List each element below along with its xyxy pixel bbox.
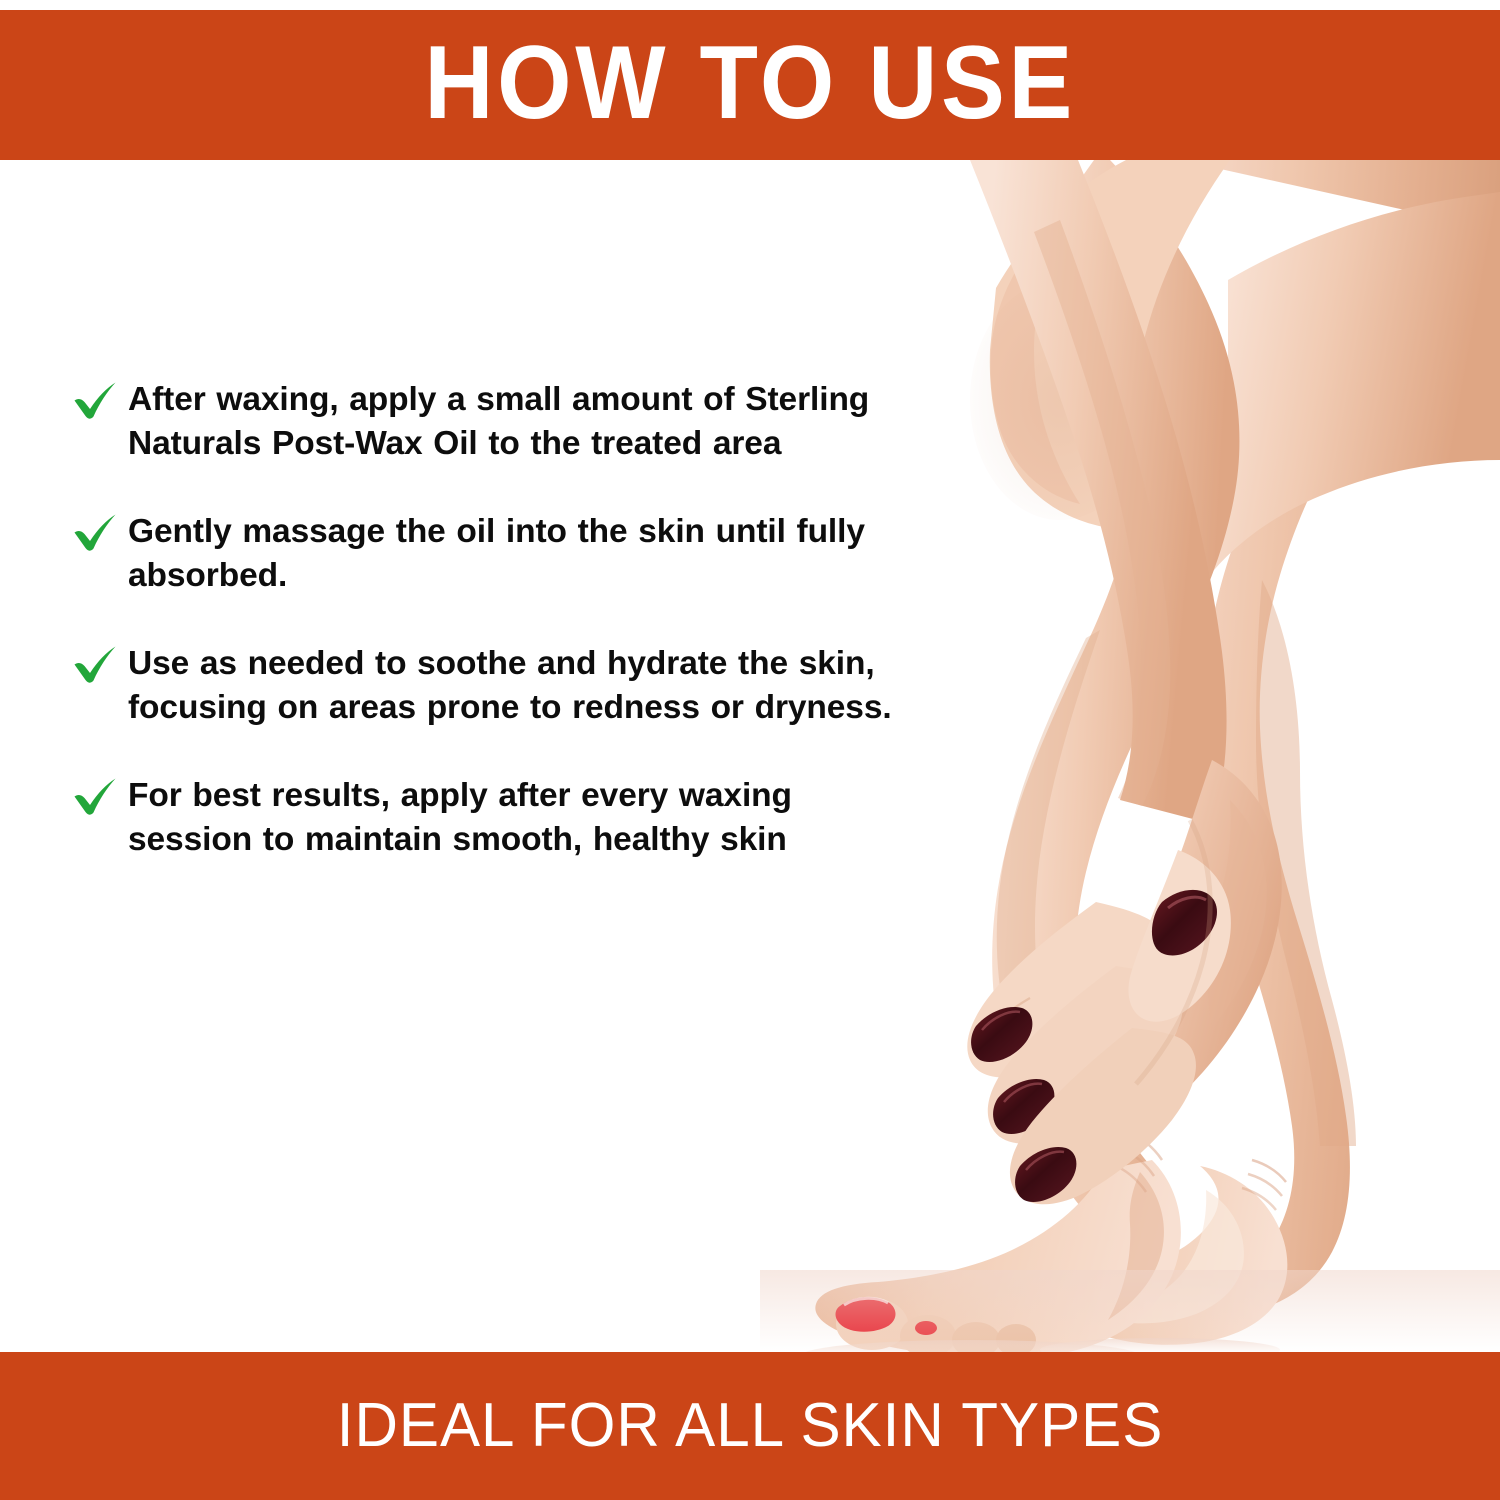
instruction-text: Gently massage the oil into the skin unt… [128,510,892,598]
footer-banner: IDEAL FOR ALL SKIN TYPES [0,1352,1500,1500]
page-title: HOW TO USE [424,31,1076,139]
list-item: For best results, apply after every waxi… [72,774,892,862]
green-check-icon [72,380,128,424]
infographic-page: HOW TO USE After waxing, apply a small a… [0,0,1500,1500]
instruction-text: For best results, apply after every waxi… [128,774,892,862]
list-item: After waxing, apply a small amount of St… [72,378,892,466]
instruction-text: Use as needed to soothe and hydrate the … [128,642,892,730]
green-check-icon [72,776,128,820]
list-item: Use as needed to soothe and hydrate the … [72,642,892,730]
green-check-icon [72,644,128,688]
footer-tagline: IDEAL FOR ALL SKIN TYPES [337,1395,1164,1457]
instruction-list: After waxing, apply a small amount of St… [72,378,892,862]
instruction-text: After waxing, apply a small amount of St… [128,378,892,466]
header-banner: HOW TO USE [0,10,1500,160]
list-item: Gently massage the oil into the skin unt… [72,510,892,598]
green-check-icon [72,512,128,556]
